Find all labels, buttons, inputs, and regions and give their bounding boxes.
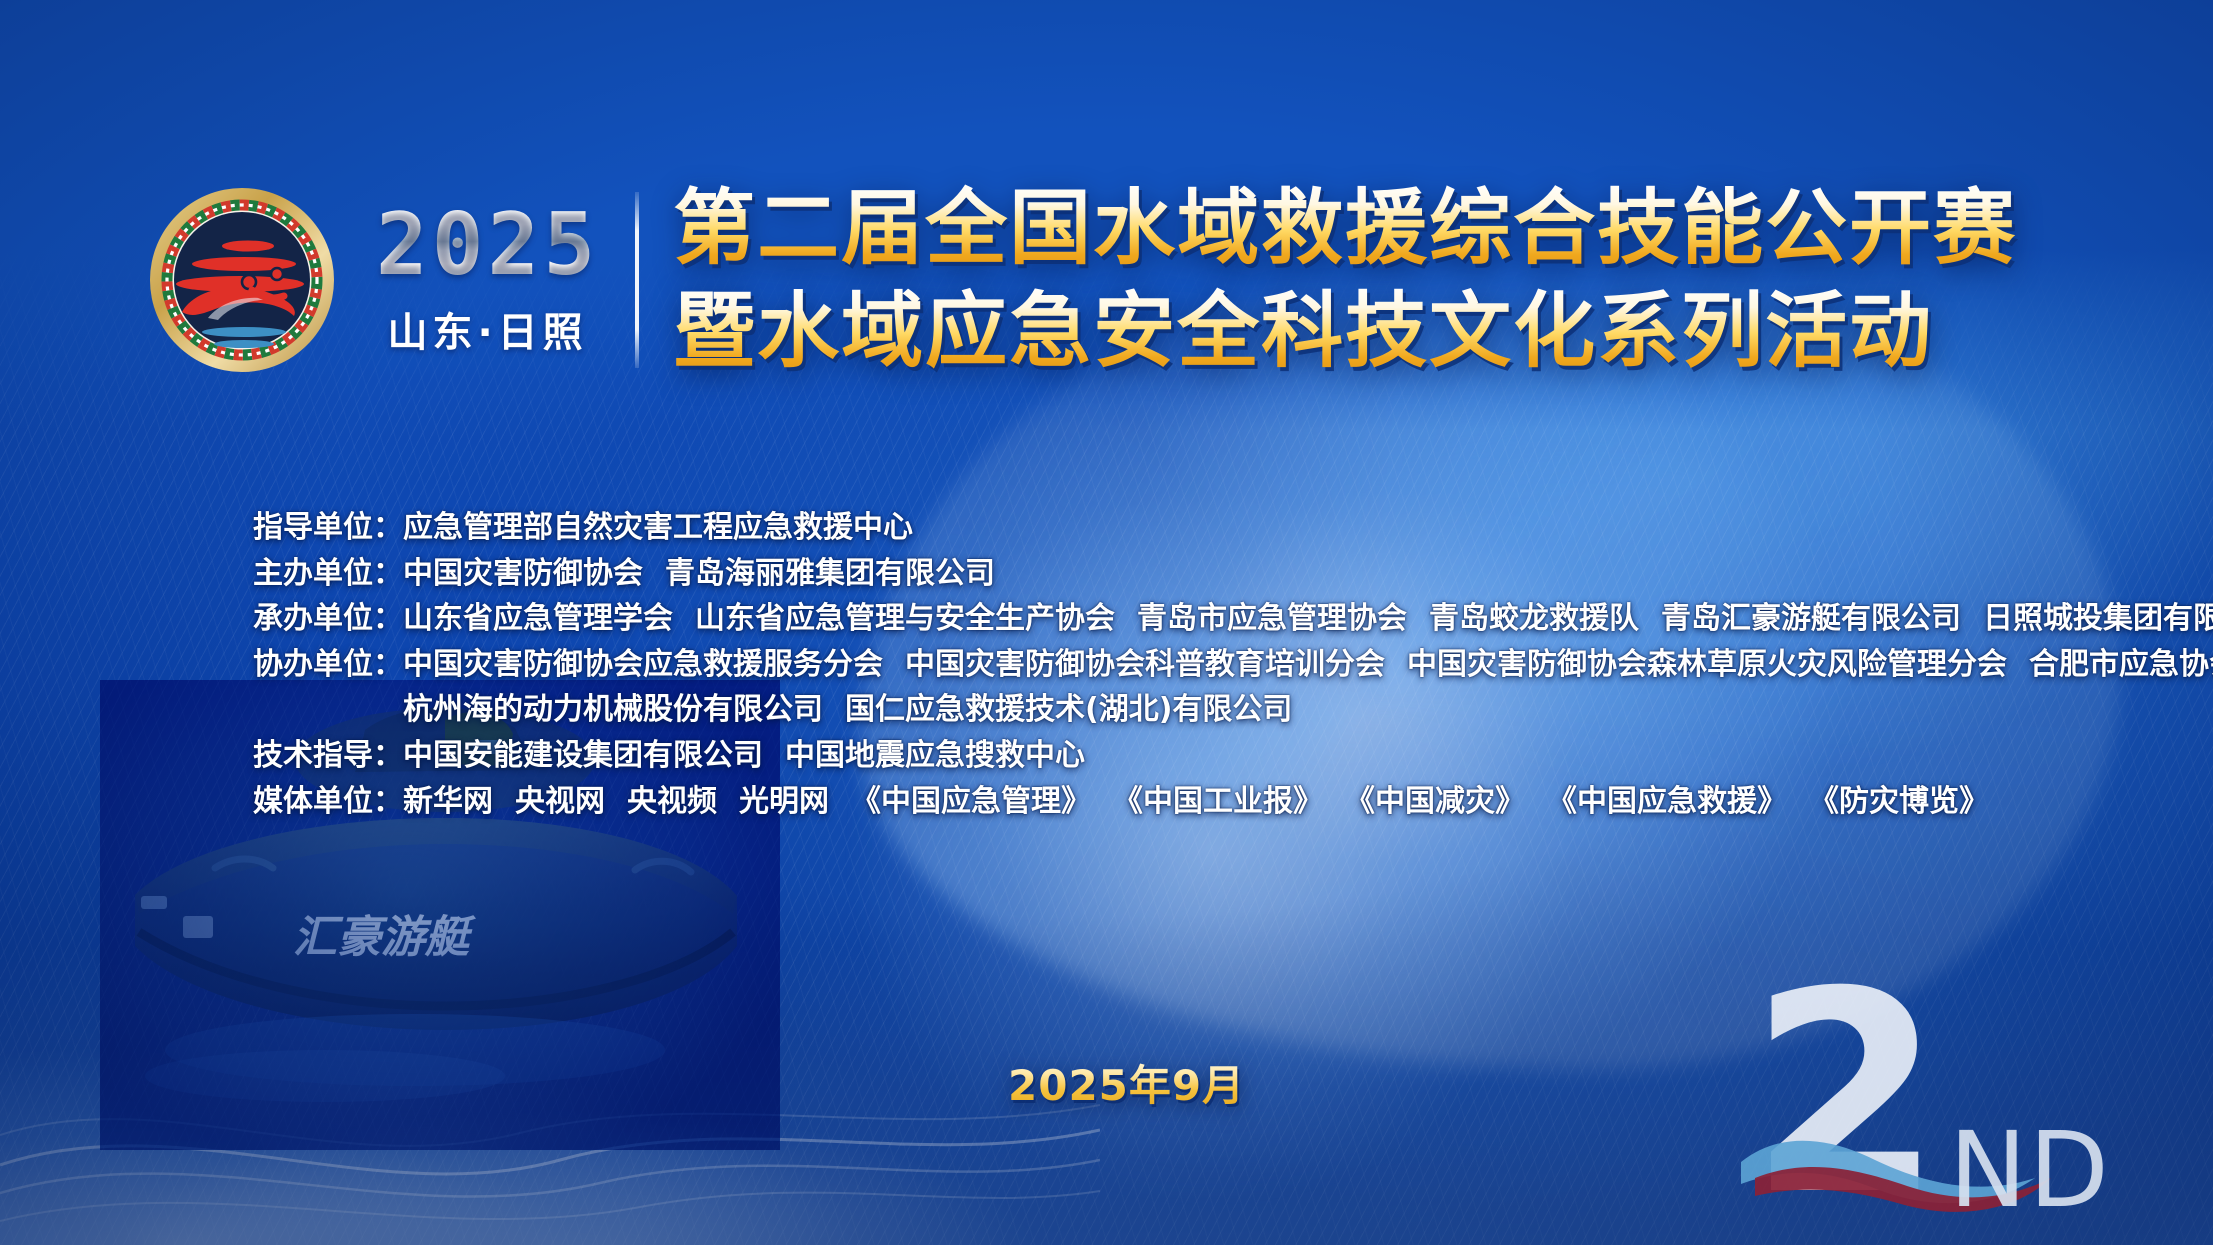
credit-value: 青岛蛟龙救援队 [1429, 596, 1639, 642]
credits-block: 指导单位：应急管理部自然灾害工程应急救援中心主办单位：中国灾害防御协会青岛海丽雅… [253, 505, 2213, 824]
city-text: 山东·日照 [387, 300, 587, 358]
water-rescue-emblem-icon [148, 186, 336, 374]
poster-header: 2025 山东·日照 第二届全国水域救援综合技能公开赛 暨水域应急安全科技文化系… [0, 150, 2213, 410]
credit-row: 技术指导：中国安能建设集团有限公司中国地震应急搜救中心 [253, 733, 2213, 779]
credit-values: 杭州海的动力机械股份有限公司国仁应急救援技术(湖北)有限公司 [403, 687, 1292, 733]
credit-values: 应急管理部自然灾害工程应急救援中心 [403, 505, 913, 551]
credit-value: 中国灾害防御协会应急救援服务分会 [403, 642, 883, 688]
credit-value: 《中国应急管理》 [851, 779, 1091, 825]
credit-value: 青岛汇豪游艇有限公司 [1661, 596, 1961, 642]
credit-value: 《中国工业报》 [1113, 779, 1323, 825]
credit-value: 山东省应急管理与安全生产协会 [695, 596, 1115, 642]
second-edition-wave-mark-icon: 2 ND [1735, 952, 2135, 1227]
credit-label: 主办单位： [253, 551, 403, 597]
credit-value: 杭州海的动力机械股份有限公司 [403, 687, 823, 733]
credit-value: 《中国减灾》 [1345, 779, 1525, 825]
title-line-1: 第二届全国水域救援综合技能公开赛 [673, 182, 2213, 275]
credit-value: 新华网 [403, 779, 493, 825]
credit-value: 应急管理部自然灾害工程应急救援中心 [403, 505, 913, 551]
credit-value: 山东省应急管理学会 [403, 596, 673, 642]
year-city-block: 2025 山东·日照 [376, 202, 609, 358]
credit-value: 中国安能建设集团有限公司 [403, 733, 763, 779]
credit-values: 中国灾害防御协会应急救援服务分会中国灾害防御协会科普教育培训分会中国灾害防御协会… [403, 642, 2213, 688]
title-block: 第二届全国水域救援综合技能公开赛 暨水域应急安全科技文化系列活动 [673, 182, 2213, 379]
credit-label: 指导单位： [253, 505, 403, 551]
credit-label: 技术指导： [253, 733, 403, 779]
credit-value: 中国灾害防御协会科普教育培训分会 [905, 642, 1385, 688]
credit-row: 承办单位：山东省应急管理学会山东省应急管理与安全生产协会青岛市应急管理协会青岛蛟… [253, 596, 2213, 642]
credit-row: 主办单位：中国灾害防御协会青岛海丽雅集团有限公司 [253, 551, 2213, 597]
credit-value: 中国地震应急搜救中心 [785, 733, 1085, 779]
credit-value: 光明网 [739, 779, 829, 825]
credit-value: 日照城投集团有限公司 [1983, 596, 2213, 642]
credit-row: 媒体单位：新华网央视网央视频光明网《中国应急管理》《中国工业报》《中国减灾》《中… [253, 779, 2213, 825]
credit-label: 承办单位： [253, 596, 403, 642]
credit-row: 指导单位：应急管理部自然灾害工程应急救援中心 [253, 505, 2213, 551]
watermark-suffix: ND [1949, 1109, 2111, 1227]
credit-values: 中国灾害防御协会青岛海丽雅集团有限公司 [403, 551, 995, 597]
credit-value: 青岛海丽雅集团有限公司 [665, 551, 995, 597]
credit-value: 中国灾害防御协会森林草原火灾风险管理分会 [1407, 642, 2007, 688]
second-edition-watermark: 2 ND [1735, 952, 2135, 1227]
credit-label: 媒体单位： [253, 779, 403, 825]
credit-values: 山东省应急管理学会山东省应急管理与安全生产协会青岛市应急管理协会青岛蛟龙救援队青… [403, 596, 2213, 642]
credit-value: 《防灾博览》 [1809, 779, 1989, 825]
poster-canvas: 汇豪游艇 [0, 0, 2213, 1245]
credit-value: 国仁应急救援技术(湖北)有限公司 [845, 687, 1292, 733]
credit-row: 协办单位：杭州海的动力机械股份有限公司国仁应急救援技术(湖北)有限公司 [253, 687, 2213, 733]
credit-value: 合肥市应急协会 [2029, 642, 2213, 688]
event-emblem [148, 186, 336, 374]
header-divider [635, 192, 639, 368]
credit-value: 中国灾害防御协会 [403, 551, 643, 597]
year-text: 2025 [376, 202, 599, 288]
credit-value: 央视网 [515, 779, 605, 825]
credit-values: 中国安能建设集团有限公司中国地震应急搜救中心 [403, 733, 1085, 779]
credit-value: 央视频 [627, 779, 717, 825]
credit-value: 青岛市应急管理协会 [1137, 596, 1407, 642]
credit-value: 《中国应急救援》 [1547, 779, 1787, 825]
credit-row: 协办单位：中国灾害防御协会应急救援服务分会中国灾害防御协会科普教育培训分会中国灾… [253, 642, 2213, 688]
credit-values: 新华网央视网央视频光明网《中国应急管理》《中国工业报》《中国减灾》《中国应急救援… [403, 779, 1989, 825]
event-date: 2025年9月 [1008, 1052, 1245, 1113]
credit-label: 协办单位： [253, 642, 403, 688]
title-line-2: 暨水域应急安全科技文化系列活动 [673, 285, 2213, 378]
